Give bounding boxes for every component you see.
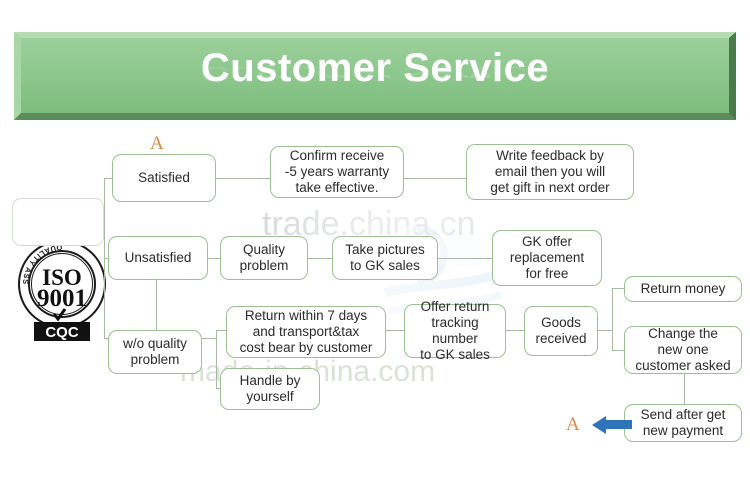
svg-text:CQC: CQC [45, 324, 79, 341]
node-gk-replacement[interactable]: GK offer replacement for free [492, 230, 602, 286]
node-take-pictures[interactable]: Take pictures to GK sales [332, 236, 438, 280]
connector-return-tracking [386, 330, 404, 331]
node-change-new-one[interactable]: Change the new one customer asked [624, 326, 742, 374]
marker-a-top: A [150, 134, 164, 153]
node-unsatisfied[interactable]: Unsatisfied [108, 236, 208, 280]
connector-quality-pictures [308, 258, 332, 259]
node-goods-received[interactable]: Goods received [524, 306, 598, 356]
connector-unsatisfied-down [156, 276, 157, 338]
connector-confirm-feedback [404, 178, 466, 179]
connector-goods-rightcol [598, 330, 612, 331]
svg-text:9001: 9001 [37, 285, 87, 312]
node-return-within-7days[interactable]: Return within 7 days and transport&tax c… [226, 306, 386, 358]
node-send-after-payment[interactable]: Send after get new payment [624, 404, 742, 442]
node-wo-quality-problem[interactable]: w/o quality problem [108, 330, 202, 374]
node-return-money[interactable]: Return money [624, 276, 742, 302]
connector-to-return-money [612, 288, 624, 289]
node-write-feedback[interactable]: Write feedback by email then you will ge… [466, 144, 634, 200]
connector-satisfied-confirm [216, 178, 270, 179]
connector-change-send [684, 372, 685, 404]
connector-to-satisfied [104, 178, 112, 179]
node-handle-yourself[interactable]: Handle by yourself [220, 368, 320, 410]
node-confirm-receive[interactable]: Confirm receive -5 years warranty take e… [270, 146, 404, 198]
connector-wo-quality-stub [202, 338, 216, 339]
node-offer-tracking[interactable]: Offer return tracking number to GK sales [404, 304, 506, 358]
connector-to-change-new-one [612, 350, 624, 351]
connector-wo-quality-split [216, 330, 217, 388]
customer-service-flowchart: Customer Service Customer Service trade.… [0, 0, 750, 478]
iso-9001-cqc-stamp-icon: QUALITY ASSURED FIRM ISO 9001 CQC [8, 232, 116, 350]
connector-rightcol-split [612, 288, 613, 350]
node-blank-left[interactable] [12, 198, 104, 246]
node-quality-problem[interactable]: Quality problem [220, 236, 308, 280]
connector-unsatisfied-quality [208, 258, 220, 259]
svg-text:ISO: ISO [42, 265, 82, 290]
connector-to-return-7days [216, 330, 226, 331]
connector-pictures-replacement [438, 258, 492, 259]
header-banner: Customer Service Customer Service [14, 32, 736, 120]
page-title: Customer Service [14, 48, 736, 88]
marker-a-bottom: A [566, 415, 580, 434]
node-satisfied[interactable]: Satisfied [112, 154, 216, 202]
connector-tracking-goods [506, 330, 524, 331]
